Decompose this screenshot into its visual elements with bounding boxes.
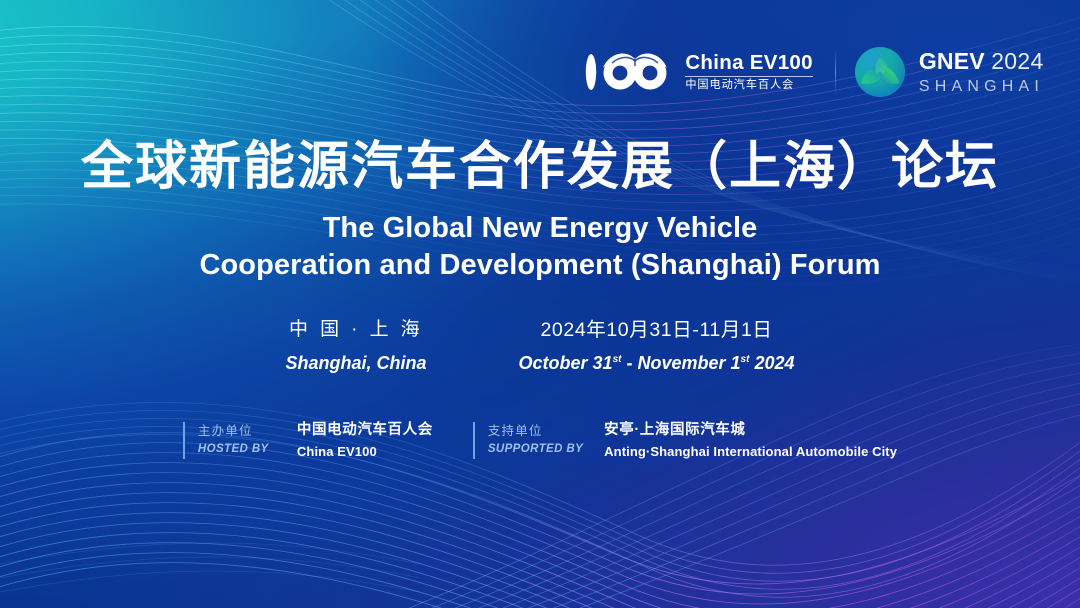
event-meta-row: 中 国 · 上 海 Shanghai, China 2024年10月31日-11… (0, 316, 1080, 377)
organizer-host-name-cn: 中国电动汽车百人会 (297, 420, 433, 442)
gnev-city: SHANGHAI (919, 79, 1044, 95)
event-date-cn: 2024年10月31日-11月1日 (540, 316, 772, 345)
organizer-host-values: 中国电动汽车百人会 China EV100 (297, 420, 433, 461)
organizer-supporter-bar (473, 422, 475, 459)
event-date-en-pre: October 31 (519, 353, 613, 373)
event-location-cn: 中 国 · 上 海 (289, 316, 423, 345)
china-ev100-name-cn: 中国电动汽车百人会 (685, 80, 813, 91)
organizer-supporter-name-en: Anting·Shanghai International Automobile… (604, 442, 897, 462)
event-date: 2024年10月31日-11月1日 October 31st - Novembe… (519, 316, 795, 377)
china-ev100-name-en: China EV100 (685, 53, 813, 74)
gnev-name: GNEV (919, 48, 985, 74)
china-ev100-logo-text: China EV100 中国电动汽车百人会 (685, 53, 813, 92)
organizer-supporter-label-en: SUPPORTED BY (488, 441, 583, 459)
organizer-host-label-en: HOSTED BY (198, 441, 276, 459)
gnev-year: 2024 (991, 48, 1043, 74)
gnev-logo-text: GNEV 2024 SHANGHAI (919, 50, 1044, 95)
organizer-host-bar (183, 422, 185, 459)
gnev-title-line: GNEV 2024 (919, 50, 1044, 73)
gnev-logo: GNEV 2024 SHANGHAI (854, 46, 1044, 98)
event-date-en-post: 2024 (749, 353, 794, 373)
organizers-row: 主办单位 HOSTED BY 中国电动汽车百人会 China EV100 支持单… (0, 420, 1080, 461)
event-location-en: Shanghai, China (286, 350, 427, 377)
page-title-en-line2: Cooperation and Development (Shanghai) F… (0, 247, 1080, 284)
china-ev100-name-cn-wrap: 中国电动汽车百人会 (685, 76, 813, 91)
organizer-host: 主办单位 HOSTED BY 中国电动汽车百人会 China EV100 (183, 420, 433, 461)
organizer-supporter-label-cn: 支持单位 (488, 422, 583, 441)
page-title-en-line1: The Global New Energy Vehicle (0, 210, 1080, 247)
organizer-host-name-en: China EV100 (297, 442, 433, 462)
organizer-host-label-cn: 主办单位 (198, 422, 276, 441)
page-title-en: The Global New Energy Vehicle Cooperatio… (0, 210, 1080, 284)
gnev-emblem (854, 46, 906, 98)
organizer-supporter-labels: 支持单位 SUPPORTED BY (488, 420, 583, 461)
conference-banner: China EV100 中国电动汽车百人会 (0, 0, 1080, 608)
event-location: 中 国 · 上 海 Shanghai, China (286, 316, 427, 377)
china-ev100-logo: China EV100 中国电动汽车百人会 (582, 49, 833, 95)
organizer-supporter: 支持单位 SUPPORTED BY 安亭·上海国际汽车城 Anting·Shan… (473, 420, 897, 461)
logo-row: China EV100 中国电动汽车百人会 (582, 46, 1044, 98)
event-date-en-mid: - November 1 (621, 353, 740, 373)
china-ev100-logo-mark (582, 49, 674, 95)
logo-divider (835, 50, 836, 94)
organizer-host-labels: 主办单位 HOSTED BY (198, 420, 276, 461)
organizer-supporter-name-cn: 安亭·上海国际汽车城 (604, 420, 897, 442)
event-date-en: October 31st - November 1st 2024 (519, 350, 795, 377)
page-title-cn: 全球新能源汽车合作发展（上海）论坛 (0, 139, 1080, 196)
organizer-supporter-values: 安亭·上海国际汽车城 Anting·Shanghai International… (604, 420, 897, 461)
